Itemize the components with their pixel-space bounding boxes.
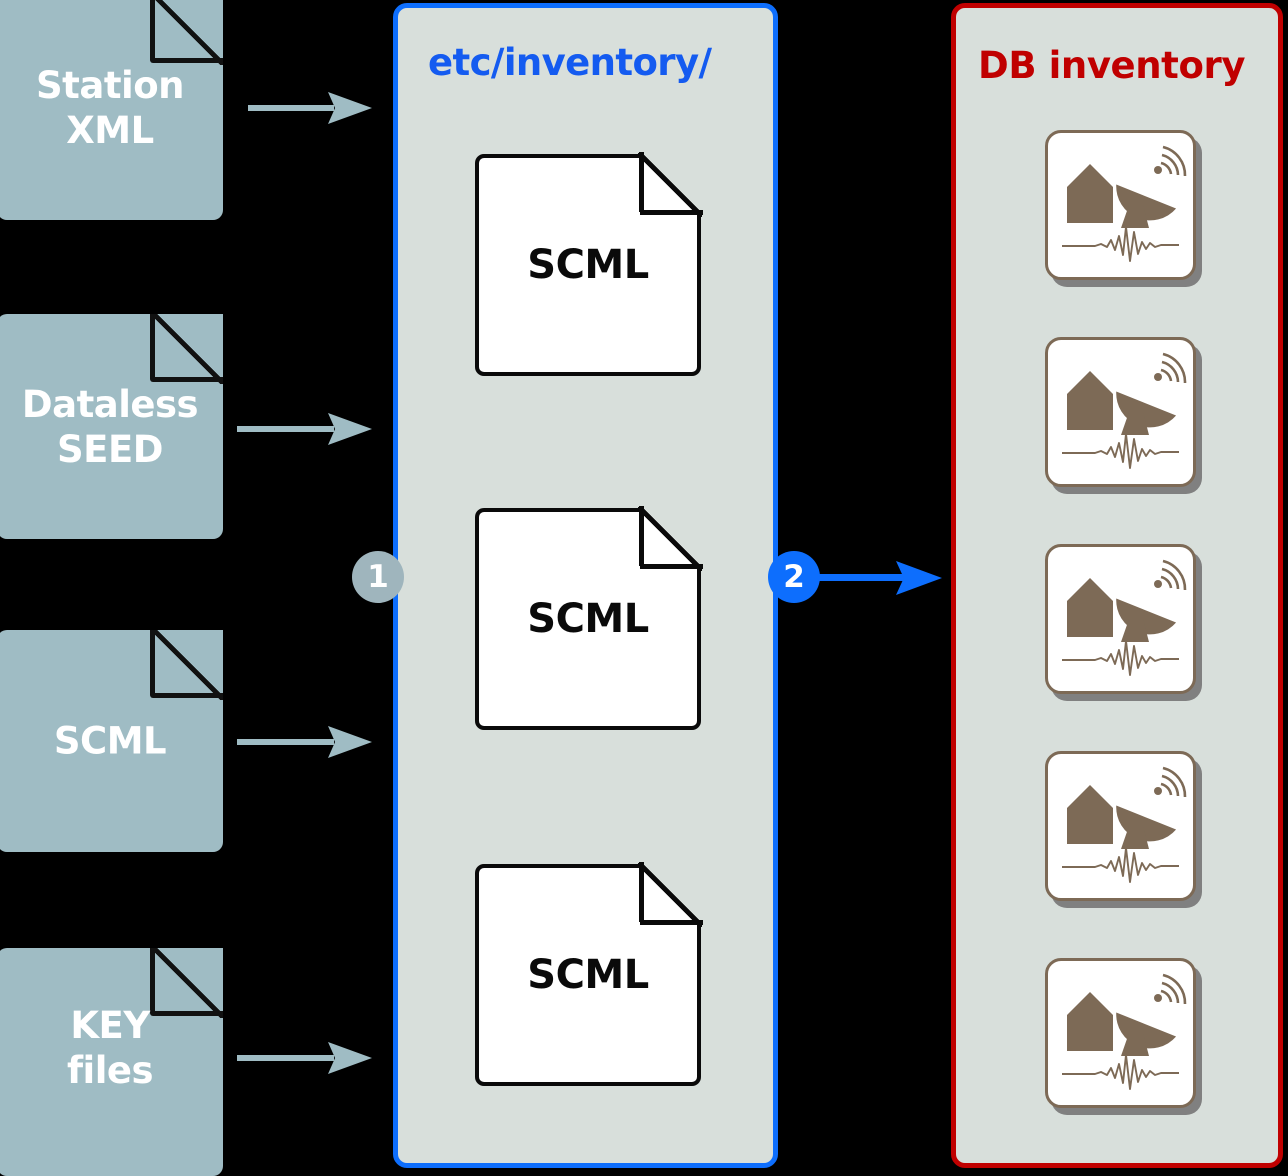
fold-edge-horizontal [640,564,703,569]
source-card-key-files[interactable]: KEY files [0,948,223,1176]
arrow-shaft [237,739,334,745]
seismogram-trace [1062,227,1179,261]
fold-edge-vertical [639,862,644,922]
source-card-scml[interactable]: SCML [0,630,223,852]
inventory-panel-title: etc/inventory/ [428,41,711,84]
step-badge-1[interactable]: 1 [352,551,404,603]
inventory-file-scml-2[interactable]: SCML [475,508,701,730]
fold-edge-vertical [639,152,644,212]
seismogram-trace [1062,641,1179,675]
station-glyph [1045,337,1196,487]
inventory-file-label: SCML [475,952,701,998]
station-glyph [1045,958,1196,1108]
signal-arc-1 [1161,784,1171,795]
seismic-station-icon[interactable] [1045,130,1196,280]
seismic-station-icon[interactable] [1045,337,1196,487]
arrow-head [328,1038,372,1078]
source-card-station-xml[interactable]: Station XML [0,0,223,220]
fold-edge-horizontal [640,920,703,925]
db-panel-title: DB inventory [978,44,1245,87]
seismic-station-icon[interactable] [1045,751,1196,901]
fold-edge-horizontal [155,693,223,698]
arrow-shaft [812,574,904,581]
building-shape [1067,371,1113,430]
signal-arc-1 [1161,163,1171,174]
dish-feed [1154,580,1162,588]
arrow-station-xml-to-inventory [248,88,372,128]
inventory-file-scml-1[interactable]: SCML [475,154,701,376]
station-glyph [1045,544,1196,694]
arrow-inventory-to-db [812,558,940,598]
inventory-file-label: SCML [475,596,701,642]
seismogram-trace [1062,434,1179,468]
building-shape [1067,785,1113,844]
dish-feed [1154,166,1162,174]
arrow-shaft [248,105,334,111]
fold-edge-vertical [639,506,644,566]
source-card-label: SCML [0,718,223,763]
arrow-scml-to-inventory [237,722,372,762]
fold-edge-vertical [150,630,155,698]
arrow-dataless-seed-to-inventory [237,409,372,449]
arrow-head [328,88,372,128]
fold-edge-vertical [150,314,155,382]
source-card-label: KEY files [0,1003,223,1093]
seismogram-trace [1062,1055,1179,1089]
fold-crease [153,630,223,700]
fold-edge-horizontal [640,210,703,215]
fold-crease [153,314,223,384]
fold-crease [638,863,702,927]
building-shape [1067,578,1113,637]
dish-feed [1154,373,1162,381]
dish-feed [1154,787,1162,795]
fold-crease [638,507,702,571]
source-card-label: Dataless SEED [0,381,223,471]
signal-arc-1 [1161,577,1171,588]
building-shape [1067,992,1113,1051]
inventory-file-label: SCML [475,242,701,288]
seismogram-trace [1062,848,1179,882]
building-shape [1067,164,1113,223]
seismic-station-icon[interactable] [1045,544,1196,694]
arrow-shaft [237,1055,334,1061]
inventory-directory-panel[interactable]: etc/inventory/ SCML SCML SCML [393,3,778,1168]
arrow-shaft [237,426,334,432]
seismic-station-icon[interactable] [1045,958,1196,1108]
inventory-file-scml-3[interactable]: SCML [475,864,701,1086]
signal-arc-1 [1161,370,1171,381]
station-glyph [1045,751,1196,901]
dish-feed [1154,994,1162,1002]
fold-edge-vertical [150,0,155,63]
arrow-key-files-to-inventory [237,1038,372,1078]
fold-crease [153,0,223,65]
arrow-head [328,722,372,762]
diagram-canvas: Station XML Dataless SEED SCML KEY fil [0,0,1288,1172]
source-card-label: Station XML [0,62,223,152]
fold-crease [638,153,702,217]
arrow-head [328,409,372,449]
db-inventory-panel[interactable]: DB inventory [951,3,1283,1168]
source-card-dataless-seed[interactable]: Dataless SEED [0,314,223,539]
signal-arc-1 [1161,991,1171,1002]
station-glyph [1045,130,1196,280]
